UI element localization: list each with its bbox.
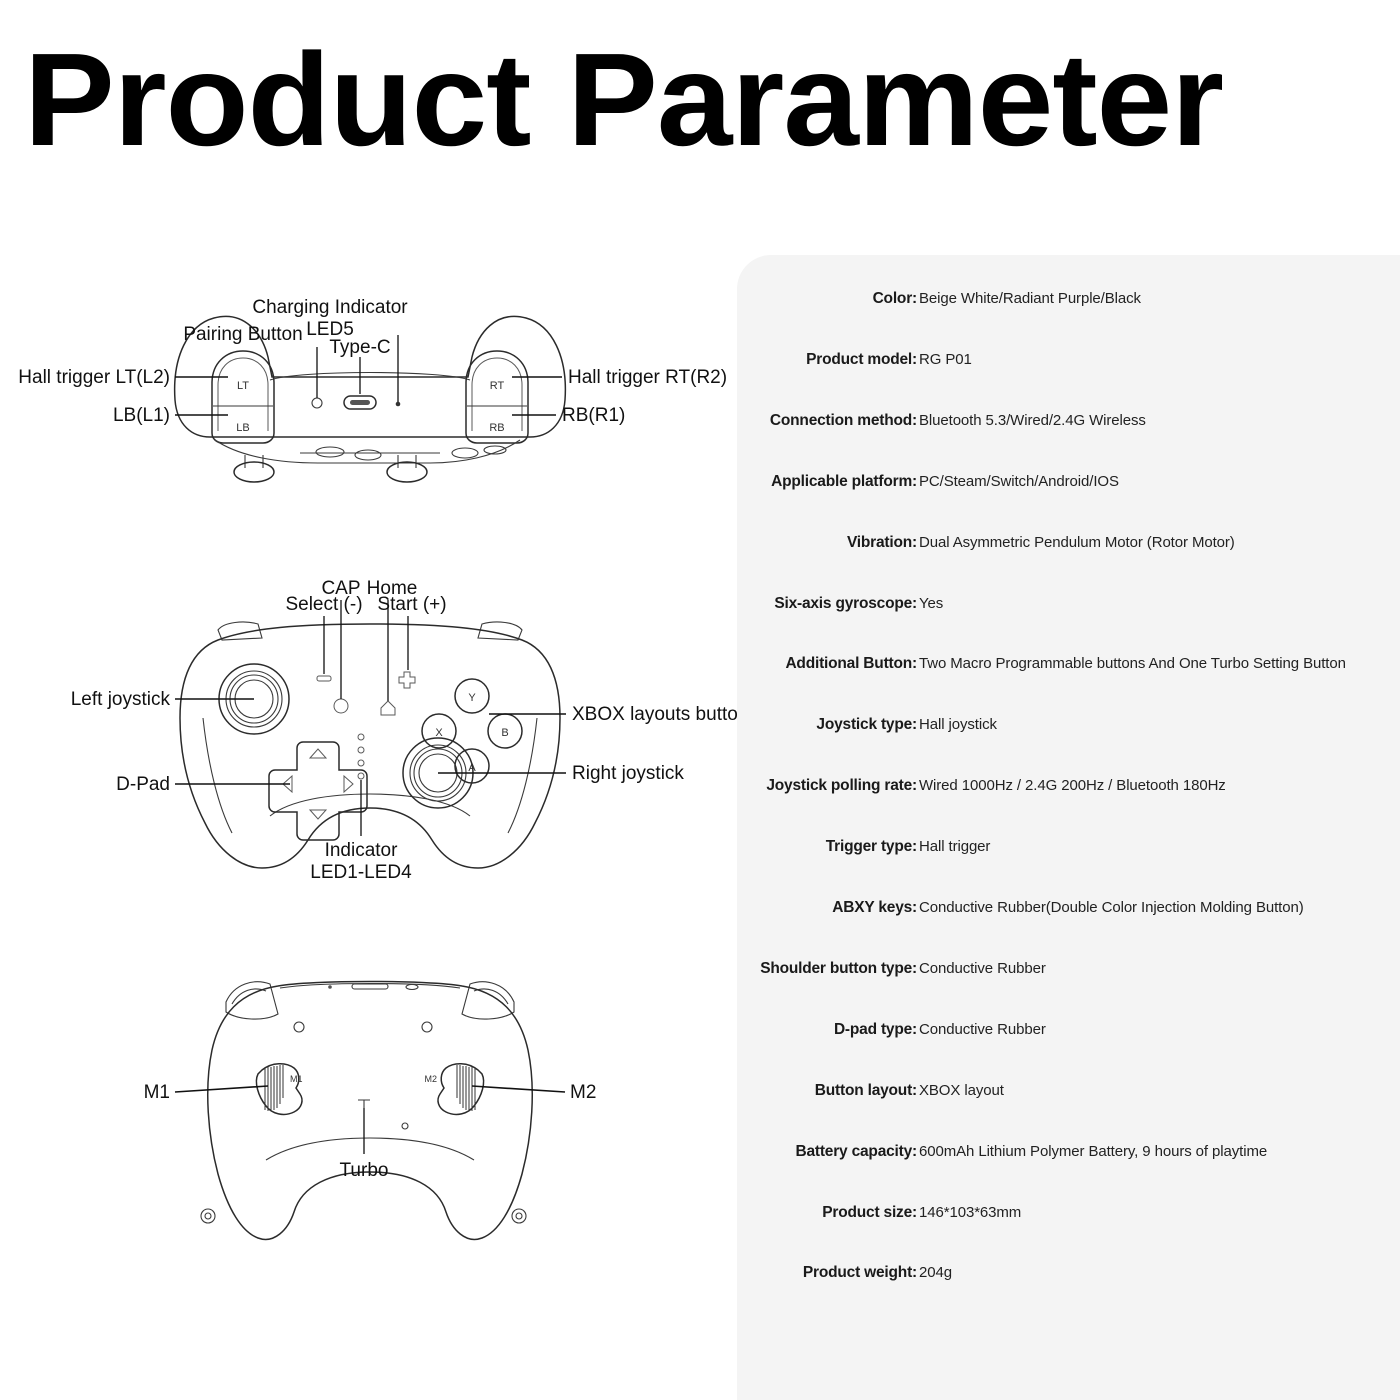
callout-rb: RB(R1) xyxy=(562,405,625,426)
callout-hall-trigger-right: Hall trigger RT(R2) xyxy=(568,367,727,388)
right-joystick-top xyxy=(387,455,427,482)
callout-start: Start (+) xyxy=(377,594,446,615)
spec-row: Joystick type:Hall joystick xyxy=(737,716,1400,738)
spec-value: Dual Asymmetric Pendulum Motor (Rotor Mo… xyxy=(919,534,1235,551)
spec-value: Wired 1000Hz / 2.4G 200Hz / Bluetooth 18… xyxy=(919,777,1226,794)
controller-front-view-diagram: Y X B A xyxy=(0,568,740,898)
callout-m2: M2 xyxy=(570,1082,596,1103)
spec-label: Button layout: xyxy=(815,1082,917,1100)
spec-label: D-pad type: xyxy=(834,1021,917,1039)
spec-label: Product model: xyxy=(806,351,917,369)
callout-d-pad: D-Pad xyxy=(116,774,170,795)
spec-row: ABXY keys:Conductive Rubber(Double Color… xyxy=(737,899,1400,921)
spec-label: Product weight: xyxy=(803,1264,917,1282)
button-b: B xyxy=(501,727,508,739)
callout-cap: CAP xyxy=(321,578,360,599)
spec-row: Product size:146*103*63mm xyxy=(737,1204,1400,1226)
callout-left-joystick: Left joystick xyxy=(71,689,171,710)
right-shoulder-unit: RT RB xyxy=(466,351,528,443)
spec-value: Two Macro Programmable buttons And One T… xyxy=(919,655,1346,672)
spec-label: Applicable platform: xyxy=(771,473,917,491)
spec-value: Yes xyxy=(919,595,943,612)
lt-button-mark: LT xyxy=(237,380,249,392)
spec-row: Battery capacity:600mAh Lithium Polymer … xyxy=(737,1143,1400,1165)
callout-hall-trigger-left: Hall trigger LT(L2) xyxy=(18,367,170,388)
spec-label: Product size: xyxy=(822,1204,917,1222)
controller-top-view-diagram: LT LB RT RB xyxy=(0,285,740,505)
spec-value: RG P01 xyxy=(919,351,972,368)
spec-label: Color: xyxy=(873,290,917,308)
m1-paddle-mark: M1 xyxy=(290,1074,303,1084)
spec-label: Connection method: xyxy=(770,412,917,430)
page-title: Product Parameter xyxy=(24,34,1400,166)
spec-value: Bluetooth 5.3/Wired/2.4G Wireless xyxy=(919,412,1146,429)
spec-panel: Color:Beige White/Radiant Purple/BlackPr… xyxy=(737,255,1400,1400)
callout-right-joystick: Right joystick xyxy=(572,763,684,784)
callout-pairing-button: Pairing Button xyxy=(183,324,302,345)
spec-label: Shoulder button type: xyxy=(760,960,917,978)
spec-row: D-pad type:Conductive Rubber xyxy=(737,1021,1400,1043)
spec-label: Battery capacity: xyxy=(795,1143,917,1161)
spec-row: Shoulder button type:Conductive Rubber xyxy=(737,960,1400,982)
spec-row: Joystick polling rate:Wired 1000Hz / 2.4… xyxy=(737,777,1400,799)
spec-row: Vibration:Dual Asymmetric Pendulum Motor… xyxy=(737,534,1400,556)
m2-paddle-mark: M2 xyxy=(424,1074,437,1084)
select-button xyxy=(317,676,331,681)
callout-type-c: Type-C xyxy=(329,337,390,358)
callout-lb: LB(L1) xyxy=(113,405,170,426)
start-button xyxy=(399,672,415,688)
callout-indicator-leds: LED1-LED4 xyxy=(310,862,412,883)
spec-row: Additional Button:Two Macro Programmable… xyxy=(737,655,1400,677)
spec-label: Joystick type: xyxy=(816,716,917,734)
spec-label: ABXY keys: xyxy=(832,899,917,917)
cap-button xyxy=(334,699,348,713)
callout-indicator: Indicator xyxy=(325,840,399,861)
spec-value: 146*103*63mm xyxy=(919,1204,1021,1221)
spec-value: 204g xyxy=(919,1264,952,1281)
callout-charging-indicator: Charging Indicator xyxy=(252,297,408,318)
spec-value: Conductive Rubber xyxy=(919,960,1046,977)
spec-row: Color:Beige White/Radiant Purple/Black xyxy=(737,290,1400,312)
turbo-button xyxy=(358,1100,370,1108)
left-shoulder-unit: LT LB xyxy=(212,351,274,443)
callout-m1: M1 xyxy=(144,1082,170,1103)
spec-row: Applicable platform:PC/Steam/Switch/Andr… xyxy=(737,473,1400,495)
spec-value: Conductive Rubber(Double Color Injection… xyxy=(919,899,1304,916)
face-buttons: Y X B A xyxy=(422,679,522,783)
led-indicators xyxy=(358,734,364,779)
m2-paddle: M2 xyxy=(424,1064,483,1115)
spec-label: Trigger type: xyxy=(826,838,917,856)
spec-row: Button layout:XBOX layout xyxy=(737,1082,1400,1104)
callout-turbo: Turbo xyxy=(340,1160,389,1181)
spec-label: Vibration: xyxy=(847,534,917,552)
type-c-port xyxy=(344,396,376,409)
button-y: Y xyxy=(468,692,476,704)
spec-value: Hall joystick xyxy=(919,716,997,733)
rt-button-mark: RT xyxy=(490,380,505,392)
rb-button-mark: RB xyxy=(489,422,504,434)
spec-value: Beige White/Radiant Purple/Black xyxy=(919,290,1141,307)
lb-button-mark: LB xyxy=(236,422,249,434)
spec-value: XBOX layout xyxy=(919,1082,1004,1099)
spec-value: PC/Steam/Switch/Android/IOS xyxy=(919,473,1119,490)
controller-back-view-diagram: M1 M2 M1 M2 xyxy=(0,958,740,1248)
spec-row: Six-axis gyroscope:Yes xyxy=(737,595,1400,617)
spec-value: Hall trigger xyxy=(919,838,990,855)
pairing-button-port xyxy=(312,398,322,408)
callout-xbox-layouts-button: XBOX layouts button xyxy=(572,704,748,725)
screw-right xyxy=(512,1209,526,1223)
spec-value: 600mAh Lithium Polymer Battery, 9 hours … xyxy=(919,1143,1267,1160)
spec-label: Additional Button: xyxy=(785,655,917,673)
spec-label: Six-axis gyroscope: xyxy=(774,595,917,613)
spec-row: Connection method:Bluetooth 5.3/Wired/2.… xyxy=(737,412,1400,434)
screw-left xyxy=(201,1209,215,1223)
led5-indicator xyxy=(396,402,401,407)
spec-row: Product model:RG P01 xyxy=(737,351,1400,373)
m1-paddle: M1 xyxy=(256,1064,302,1115)
home-button xyxy=(381,701,395,715)
button-x: X xyxy=(435,727,443,739)
spec-row: Product weight:204g xyxy=(737,1264,1400,1286)
d-pad xyxy=(269,742,367,840)
spec-label: Joystick polling rate: xyxy=(766,777,917,795)
spec-row: Trigger type:Hall trigger xyxy=(737,838,1400,860)
product-parameter-page: Product Parameter LT LB RT RB xyxy=(0,0,1400,1400)
spec-value: Conductive Rubber xyxy=(919,1021,1046,1038)
